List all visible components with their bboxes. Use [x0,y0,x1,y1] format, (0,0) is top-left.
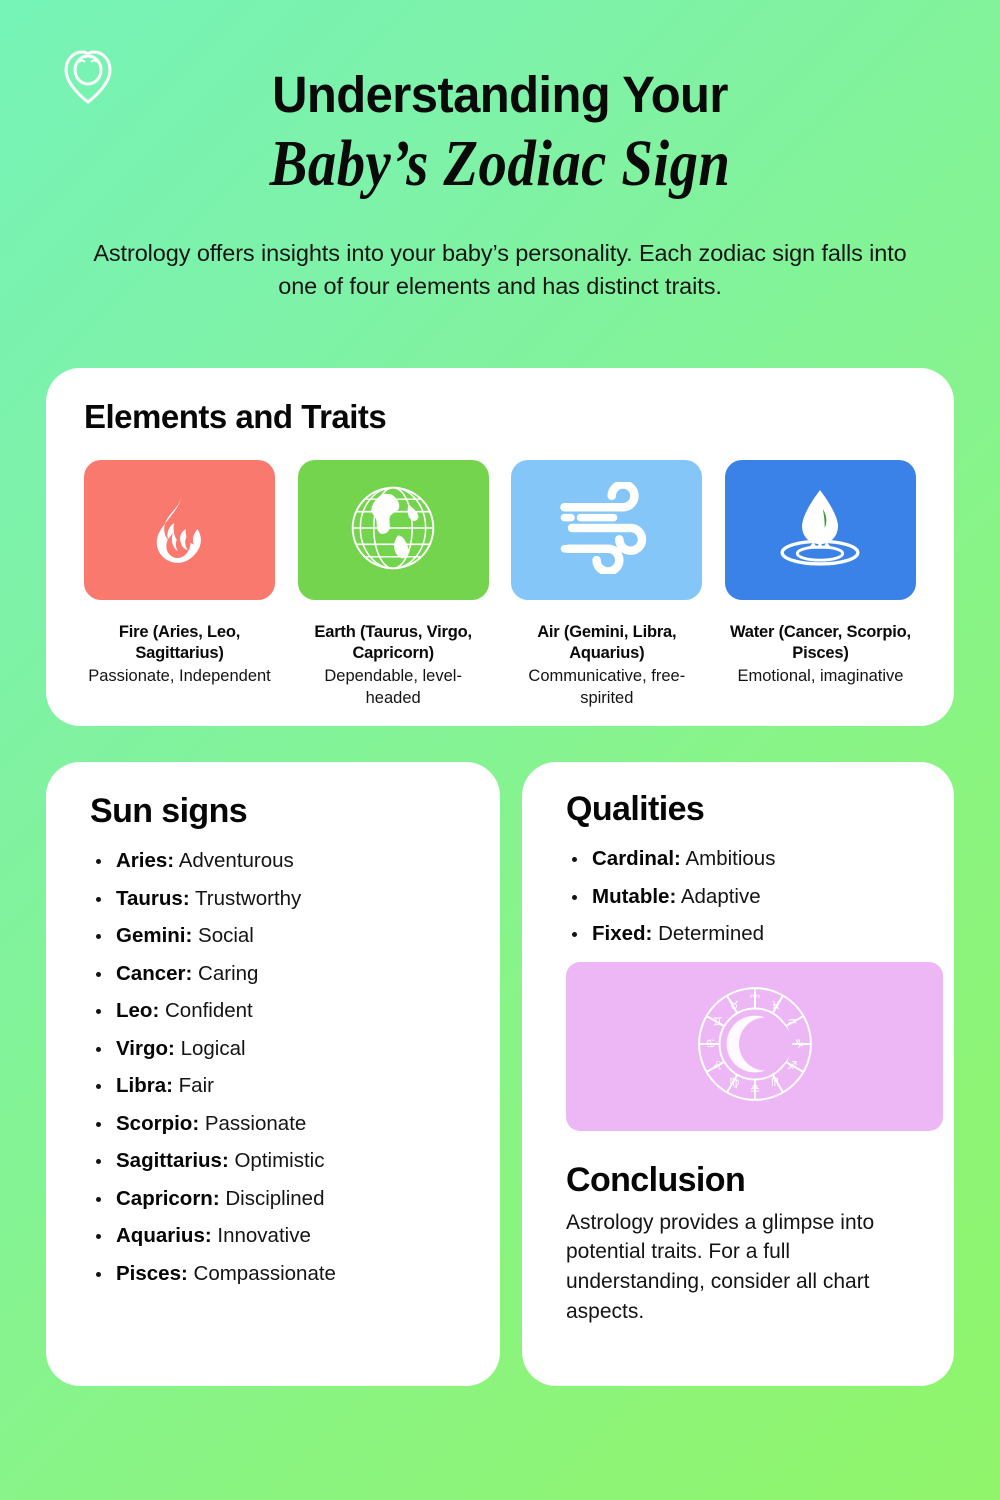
conclusion-heading: Conclusion [566,1161,920,1200]
svg-text:♍: ♍ [728,1075,738,1089]
quality-trait: Ambitious [685,847,775,870]
elements-heading: Elements and Traits [84,398,916,436]
list-item: Cardinal: Ambitious [566,849,920,870]
globe-icon [345,480,441,581]
element-tile-water [725,460,916,600]
list-item: Leo: Confident [90,1001,464,1022]
element-item-fire: Fire (Aries, Leo, Sagittarius) Passionat… [84,460,275,709]
sign-trait: Fair [179,1074,214,1097]
svg-text:♈: ♈ [749,992,760,1006]
page-subtitle: Astrology offers insights into your baby… [80,237,920,303]
sign-trait: Trustworthy [195,887,301,910]
element-desc-water: Emotional, imaginative [725,666,916,687]
element-tile-earth [298,460,489,600]
element-desc-earth: Dependable, level-headed [298,666,489,709]
element-title-fire: Fire (Aries, Leo, Sagittarius) [84,622,275,664]
element-item-water: Water (Cancer, Scorpio, Pisces) Emotiona… [725,460,916,709]
zodiac-wheel-panel: ♈ ♉ ♊ ♋ ♌ ♍ ♎ ♏ ♐ ♑ ♒ ♓ [566,962,943,1131]
sign-trait: Logical [181,1037,246,1060]
sun-signs-list: Aries: Adventurous Taurus: Trustworthy G… [90,851,464,1284]
sign-label: Pisces: [116,1262,188,1285]
list-item: Mutable: Adaptive [566,887,920,908]
quality-label: Fixed: [592,922,652,945]
sign-label: Taurus: [116,887,190,910]
sign-trait: Caring [198,962,258,985]
quality-label: Cardinal: [592,847,681,870]
list-item: Pisces: Compassionate [90,1264,464,1285]
element-title-earth: Earth (Taurus, Virgo, Capricorn) [298,622,489,664]
list-item: Capricorn: Disciplined [90,1189,464,1210]
elements-row: Fire (Aries, Leo, Sagittarius) Passionat… [84,460,916,709]
sign-label: Libra: [116,1074,173,1097]
sign-trait: Innovative [217,1224,310,1247]
sign-label: Capricorn: [116,1187,220,1210]
list-item: Scorpio: Passionate [90,1114,464,1135]
svg-text:♓: ♓ [770,997,780,1011]
element-tile-air [511,460,702,600]
list-item: Gemini: Social [90,926,464,947]
sign-label: Virgo: [116,1037,175,1060]
qualities-heading: Qualities [566,790,920,829]
conclusion-text: Astrology provides a glimpse into potent… [566,1208,916,1327]
quality-trait: Adaptive [681,885,761,908]
element-title-water: Water (Cancer, Scorpio, Pisces) [725,622,916,664]
svg-text:♌: ♌ [712,1058,722,1072]
flame-icon [149,489,211,572]
sign-trait: Social [198,924,254,947]
svg-text:♊: ♊ [712,1014,722,1028]
quality-trait: Determined [658,922,764,945]
page-title-line1: Understanding Your [20,68,980,122]
wind-icon [555,482,659,579]
sign-label: Sagittarius: [116,1149,229,1172]
elements-and-traits-card: Elements and Traits Fire (Aries, Leo, Sa… [46,368,954,726]
sign-trait: Optimistic [234,1149,324,1172]
svg-text:♐: ♐ [787,1058,797,1072]
svg-text:♋: ♋ [705,1036,715,1050]
svg-text:♒: ♒ [787,1014,797,1028]
list-item: Fixed: Determined [566,924,920,945]
sign-label: Leo: [116,999,159,1022]
sign-label: Aries: [116,849,174,872]
element-tile-fire [84,460,275,600]
qualities-list: Cardinal: Ambitious Mutable: Adaptive Fi… [566,849,920,945]
element-item-earth: Earth (Taurus, Virgo, Capricorn) Dependa… [298,460,489,709]
sign-label: Gemini: [116,924,192,947]
zodiac-wheel-icon: ♈ ♉ ♊ ♋ ♌ ♍ ♎ ♏ ♐ ♑ ♒ ♓ [684,973,826,1120]
svg-text:♉: ♉ [728,997,738,1011]
list-item: Libra: Fair [90,1076,464,1097]
page-header: Understanding Your Baby’s Zodiac Sign As… [0,0,1000,303]
list-item: Aquarius: Innovative [90,1226,464,1247]
sign-label: Aquarius: [116,1224,212,1247]
sign-trait: Passionate [205,1112,306,1135]
qualities-card: Qualities Cardinal: Ambitious Mutable: A… [522,762,954,1386]
svg-text:♏: ♏ [770,1075,780,1089]
element-title-air: Air (Gemini, Libra, Aquarius) [511,622,702,664]
sun-signs-card: Sun signs Aries: Adventurous Taurus: Tru… [46,762,500,1386]
page-title-line2: Baby’s Zodiac Sign [70,128,930,199]
list-item: Virgo: Logical [90,1039,464,1060]
sign-label: Cancer: [116,962,192,985]
element-desc-air: Communicative, free-spirited [511,666,702,709]
sign-trait: Disciplined [225,1187,324,1210]
svg-text:♎: ♎ [749,1080,759,1094]
element-desc-fire: Passionate, Independent [84,666,275,687]
sign-trait: Compassionate [194,1262,336,1285]
water-drop-icon [768,482,872,579]
list-item: Aries: Adventurous [90,851,464,872]
element-item-air: Air (Gemini, Libra, Aquarius) Communicat… [511,460,702,709]
svg-text:♑: ♑ [794,1036,804,1050]
list-item: Cancer: Caring [90,964,464,985]
quality-label: Mutable: [592,885,676,908]
sign-label: Scorpio: [116,1112,199,1135]
list-item: Taurus: Trustworthy [90,889,464,910]
sign-trait: Adventurous [179,849,294,872]
sign-trait: Confident [165,999,253,1022]
list-item: Sagittarius: Optimistic [90,1151,464,1172]
sun-signs-heading: Sun signs [90,792,464,831]
